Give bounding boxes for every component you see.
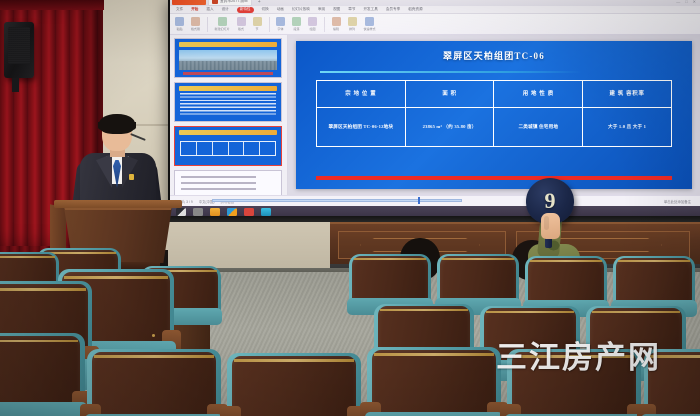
ribbon-group-5-label: 字体: [278, 27, 284, 31]
photos-icon[interactable]: [227, 208, 237, 216]
ribbon-group-8[interactable]: 编辑: [332, 17, 341, 32]
format-painter-icon: [191, 17, 200, 26]
ribbon-tab-5[interactable]: 动画: [277, 7, 284, 12]
zoom-slider-fill: [213, 200, 461, 202]
thumb-text-block: [180, 93, 275, 117]
bidder-hand: [541, 213, 560, 239]
ribbon-tab-strip: 文件 开始 插入 设计 新特性 切换 动画 幻灯片放映 审阅 视图 章节 开发工…: [170, 6, 700, 14]
zoom-slider-track[interactable]: [212, 199, 462, 203]
display-settings-icon[interactable]: [261, 208, 271, 216]
slide-thumbnail-3[interactable]: [174, 126, 282, 166]
seat: [92, 352, 216, 416]
wall-speaker-icon: [4, 22, 34, 78]
font-icon: [276, 17, 285, 26]
status-notes-hint: 单击此处添加备注: [664, 199, 695, 204]
thumb-title-band: [179, 130, 277, 135]
ribbon-group-8-label: 编辑: [333, 27, 339, 31]
podium-backwall: [168, 222, 332, 272]
powerpoint-file-icon: [212, 0, 218, 4]
zoom-slider-handle[interactable]: [418, 197, 420, 204]
arrange-icon: [348, 17, 357, 26]
table-cell-location: 翠屏区天柏组团 TC-06-12地块: [317, 108, 406, 147]
ribbon-tab-2[interactable]: 插入: [206, 7, 213, 12]
slide-edit-area[interactable]: 翠屏区天柏组团TC-06 宗 地 位 置 面 积 用 地 性 质 建 筑 容积率…: [288, 35, 700, 195]
ribbon-tab-0[interactable]: 文件: [176, 7, 183, 12]
curtain-valance: [0, 0, 104, 10]
ribbon-group-7-label: 绘图: [310, 27, 316, 31]
table-header-cell-2: 用 地 性 质: [494, 81, 583, 107]
presenter-hair: [99, 114, 135, 134]
powerpoint-taskbar-icon[interactable]: [244, 208, 254, 216]
table-cell-use-type: 二类城镇 住宅用地: [494, 108, 583, 147]
slide-thumbnail-1[interactable]: [174, 38, 282, 78]
ribbon-tab-9[interactable]: 章节: [348, 7, 355, 12]
slide-accent-bar: [316, 176, 672, 180]
ribbon-group-4[interactable]: 节: [253, 17, 262, 32]
thumb-photo: [179, 50, 277, 70]
ribbon-group-5[interactable]: 字体: [276, 17, 285, 32]
slide-thumbnail-4[interactable]: [174, 170, 282, 195]
ribbon-group-0-label: 粘贴: [176, 27, 182, 31]
ribbon-divider-2: [269, 17, 270, 32]
slide-title-rule: [320, 71, 581, 73]
minimize-icon[interactable]: —: [676, 0, 680, 4]
auction-hall-scene: 宜宾市2077.pptx + — □ ✕ 文件 开始 插入 设计 新特性 切换 …: [0, 0, 700, 416]
ribbon-tab-10[interactable]: 开发工具: [363, 7, 377, 12]
thumb-title-band: [179, 86, 277, 91]
edit-icon: [332, 17, 341, 26]
paste-icon: [175, 17, 184, 26]
table-header-cell-1: 面 积: [406, 81, 495, 107]
table-header-cell-3: 建 筑 容积率: [583, 81, 671, 107]
ribbon-tab-11[interactable]: 会员专享: [386, 7, 400, 12]
slide-title: 翠屏区天柏组团TC-06: [296, 49, 692, 62]
paragraph-icon: [292, 17, 301, 26]
ribbon-group-6[interactable]: 段落: [292, 17, 301, 32]
search-icon[interactable]: [193, 208, 203, 216]
window-controls[interactable]: — □ ✕: [676, 0, 700, 4]
slide-thumbnail-pane[interactable]: [170, 35, 288, 195]
slide-table: 宗 地 位 置 面 积 用 地 性 质 建 筑 容积率 翠屏区天柏组团 TC-0…: [316, 80, 672, 148]
layout-icon: [237, 17, 246, 26]
table-header-row: 宗 地 位 置 面 积 用 地 性 质 建 筑 容积率: [317, 81, 671, 108]
close-icon[interactable]: ✕: [693, 0, 696, 4]
ribbon-toolbar: 粘贴 格式刷 新建幻灯片 版式 节 字体: [170, 14, 700, 35]
wps-logo-icon[interactable]: [172, 0, 206, 5]
current-slide[interactable]: 翠屏区天柏组团TC-06 宗 地 位 置 面 积 用 地 性 质 建 筑 容积率…: [296, 41, 692, 188]
ribbon-group-4-label: 节: [256, 27, 259, 31]
quick-styles-icon: [365, 17, 374, 26]
thumb-subtitle-band: [183, 72, 272, 75]
ribbon-tab-4[interactable]: 切换: [262, 7, 269, 12]
ribbon-group-1[interactable]: 格式刷: [191, 17, 200, 32]
section-icon: [253, 17, 262, 26]
ribbon-tab-12[interactable]: 稻壳资源: [408, 7, 422, 12]
projector-screen: 宜宾市2077.pptx + — □ ✕ 文件 开始 插入 设计 新特性 切换 …: [170, 0, 700, 217]
ribbon-divider-1: [207, 17, 208, 32]
ribbon-group-10-label: 快速样式: [364, 27, 376, 31]
document-tab-label: 宜宾市2077.pptx: [220, 0, 248, 4]
ribbon-group-1-label: 格式刷: [191, 27, 200, 31]
table-header-cell-0: 宗 地 位 置: [317, 81, 406, 107]
new-slide-icon: [218, 17, 227, 26]
thumb-table: [180, 141, 275, 155]
ribbon-group-3[interactable]: 版式: [237, 17, 246, 32]
presenter-lapel-badge: [129, 174, 134, 180]
ribbon-group-0[interactable]: 粘贴: [175, 17, 184, 32]
ribbon-group-3-label: 版式: [238, 27, 244, 31]
seat: [0, 336, 80, 416]
ribbon-group-9-label: 排列: [349, 27, 355, 31]
table-cell-area: 23865 m² （约 35.80 亩）: [406, 108, 495, 147]
file-explorer-icon[interactable]: [210, 208, 220, 216]
ribbon-group-9[interactable]: 排列: [348, 17, 357, 32]
podium-top: [54, 200, 182, 208]
ribbon-tab-6[interactable]: 幻灯片放映: [292, 7, 310, 12]
new-tab-button[interactable]: +: [258, 0, 261, 5]
headset-microphone-icon: [130, 133, 146, 141]
watermark: 三江房产网: [496, 332, 661, 377]
document-tab[interactable]: 宜宾市2077.pptx: [209, 0, 251, 5]
table-cell-far: 大于 1.0 且 大于 1: [583, 108, 671, 147]
thumb-title-band: [179, 42, 277, 47]
slide-thumbnail-2[interactable]: [174, 82, 282, 122]
ribbon-tab-3[interactable]: 设计: [222, 7, 229, 12]
ribbon-group-6-label: 段落: [294, 27, 300, 31]
seat: [232, 356, 356, 416]
ribbon-group-2-label: 新建幻灯片: [215, 27, 230, 31]
speaker-mount: [12, 78, 19, 92]
ribbon-group-2[interactable]: 新建幻灯片: [215, 17, 230, 32]
ribbon-tab-1[interactable]: 开始: [191, 7, 198, 12]
ribbon-tab-7[interactable]: 审阅: [318, 7, 325, 12]
ribbon-divider-3: [324, 17, 325, 32]
ribbon-tab-8[interactable]: 视图: [333, 7, 340, 12]
ribbon-new-feature-pill[interactable]: 新特性: [237, 7, 254, 13]
ribbon-group-7[interactable]: 绘图: [308, 17, 317, 32]
ribbon-group-10[interactable]: 快速样式: [364, 17, 376, 32]
maximize-icon[interactable]: □: [685, 0, 687, 4]
seat: [372, 350, 496, 416]
table-row: 翠屏区天柏组团 TC-06-12地块 23865 m² （约 35.80 亩） …: [317, 108, 671, 147]
drawing-icon: [308, 17, 317, 26]
